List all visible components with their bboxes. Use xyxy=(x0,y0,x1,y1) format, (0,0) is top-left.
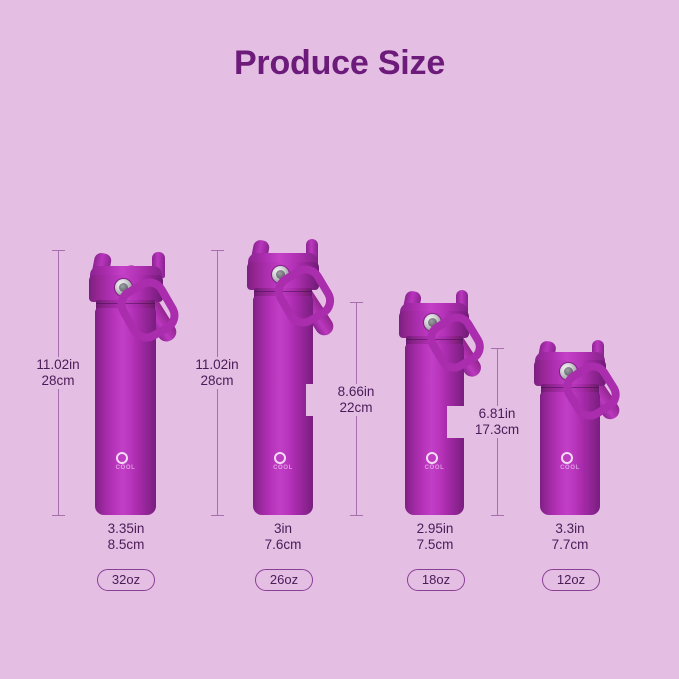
width-label-32oz: 3.35in 8.5cm xyxy=(76,521,176,553)
height-label-26oz: 11.02in 28cm xyxy=(167,357,267,389)
crescent-circle-logo-icon xyxy=(274,452,286,464)
capacity-badge-12oz: 12oz xyxy=(542,569,600,591)
logo-18oz: COOL xyxy=(405,452,464,474)
height-cap-bottom-18oz xyxy=(350,515,363,516)
width-label-18oz: 2.95in 7.5cm xyxy=(385,521,485,553)
logo-wordmark-18oz: COOL xyxy=(405,465,464,471)
product-size-infographic: Produce Size 11.02in 28cm COO xyxy=(0,0,679,679)
height-cap-bottom-12oz xyxy=(491,515,504,516)
logo-wordmark-26oz: COOL xyxy=(253,465,313,471)
crescent-circle-logo-icon xyxy=(116,452,128,464)
crescent-circle-logo-icon xyxy=(561,452,573,464)
logo-wordmark-32oz: COOL xyxy=(95,465,156,471)
capacity-badge-32oz: 32oz xyxy=(97,569,155,591)
height-label-12oz: 6.81in 17.3cm xyxy=(447,406,547,438)
page-title: Produce Size xyxy=(0,44,679,83)
crescent-circle-logo-icon xyxy=(426,452,438,464)
capacity-badge-26oz: 26oz xyxy=(255,569,313,591)
capacity-badge-18oz: 18oz xyxy=(407,569,465,591)
height-label-18oz: 8.66in 22cm xyxy=(306,384,406,416)
logo-32oz: COOL xyxy=(95,452,156,474)
height-cap-bottom-26oz xyxy=(211,515,224,516)
logo-26oz: COOL xyxy=(253,452,313,474)
body-26oz xyxy=(253,296,313,515)
width-label-26oz: 3in 7.6cm xyxy=(233,521,333,553)
height-cap-bottom-32oz xyxy=(52,515,65,516)
height-label-32oz: 11.02in 28cm xyxy=(8,357,108,389)
logo-12oz: COOL xyxy=(540,452,600,474)
logo-wordmark-12oz: COOL xyxy=(540,465,600,471)
width-label-12oz: 3.3in 7.7cm xyxy=(520,521,620,553)
